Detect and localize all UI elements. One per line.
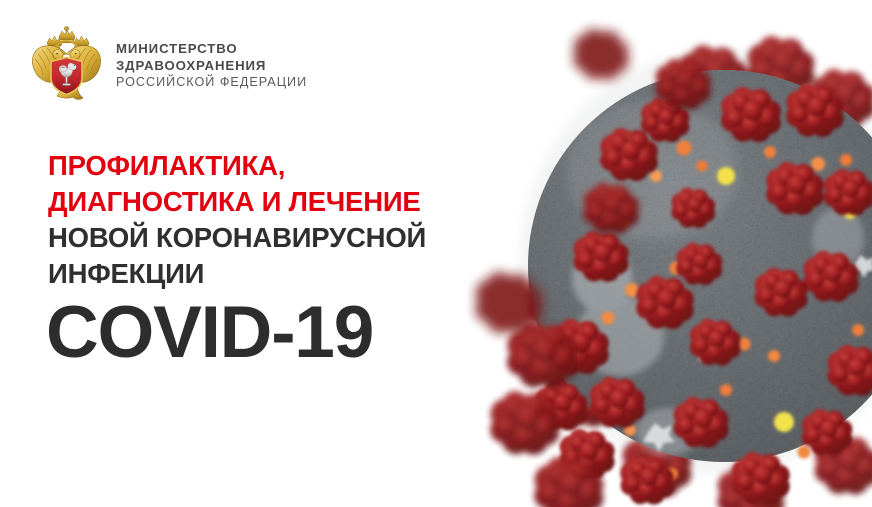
virus-illustration bbox=[452, 0, 872, 507]
ministry-line-2: ЗДРАВООХРАНЕНИЯ bbox=[116, 58, 307, 75]
title-line-3: НОВОЙ КОРОНАВИРУСНОЙ bbox=[48, 220, 478, 256]
ministry-line-1: МИНИСТЕРСТВО bbox=[116, 41, 307, 58]
title-line-4: ИНФЕКЦИИ bbox=[48, 256, 478, 292]
covid19-headline: COVID-19 bbox=[46, 294, 373, 372]
page-title: ПРОФИЛАКТИКА, ДИАГНОСТИКА И ЛЕЧЕНИЕ НОВО… bbox=[48, 148, 478, 292]
sars-cov-2-virus-icon bbox=[452, 0, 872, 507]
title-line-1: ПРОФИЛАКТИКА, bbox=[48, 148, 478, 184]
title-line-2: ДИАГНОСТИКА И ЛЕЧЕНИЕ bbox=[48, 184, 478, 220]
covid19-title-page: МИНИСТЕРСТВО ЗДРАВООХРАНЕНИЯ РОССИЙСКОЙ … bbox=[0, 0, 872, 507]
ministry-line-3: РОССИЙСКОЙ ФЕДЕРАЦИИ bbox=[116, 75, 307, 91]
ministry-name: МИНИСТЕРСТВО ЗДРАВООХРАНЕНИЯ РОССИЙСКОЙ … bbox=[116, 39, 307, 90]
ministry-logo: МИНИСТЕРСТВО ЗДРАВООХРАНЕНИЯ РОССИЙСКОЙ … bbox=[30, 26, 307, 104]
russian-double-headed-eagle-emblem-icon bbox=[30, 26, 104, 104]
